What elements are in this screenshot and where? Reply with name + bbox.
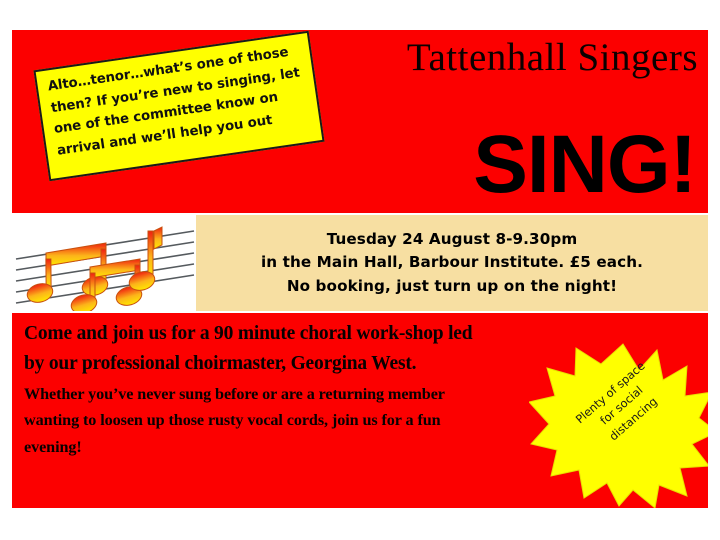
headline-sing: SING! (473, 126, 696, 204)
event-booking-note: No booking, just turn up on the night! (287, 275, 617, 298)
body-lead-paragraph: Come and join us for a 90 minute choral … (24, 319, 494, 378)
poster-canvas: Tattenhall Singers SING! Alto…tenor…what… (0, 0, 720, 540)
body-panel: Come and join us for a 90 minute choral … (12, 313, 708, 508)
starburst-shape (529, 344, 708, 508)
page-title: Tattenhall Singers (407, 38, 698, 77)
info-band: Tuesday 24 August 8-9.30pm in the Main H… (12, 215, 708, 311)
body-text-block: Come and join us for a 90 minute choral … (24, 319, 494, 460)
event-date-time: Tuesday 24 August 8-9.30pm (327, 228, 578, 251)
music-notes-icon (12, 215, 196, 311)
event-details: Tuesday 24 August 8-9.30pm in the Main H… (196, 215, 708, 311)
event-venue-price: in the Main Hall, Barbour Institute. £5 … (261, 251, 643, 274)
social-distancing-starburst: Plenty of space for social distancing (529, 340, 708, 508)
body-secondary-paragraph: Whether you’ve never sung before or are … (24, 381, 494, 460)
